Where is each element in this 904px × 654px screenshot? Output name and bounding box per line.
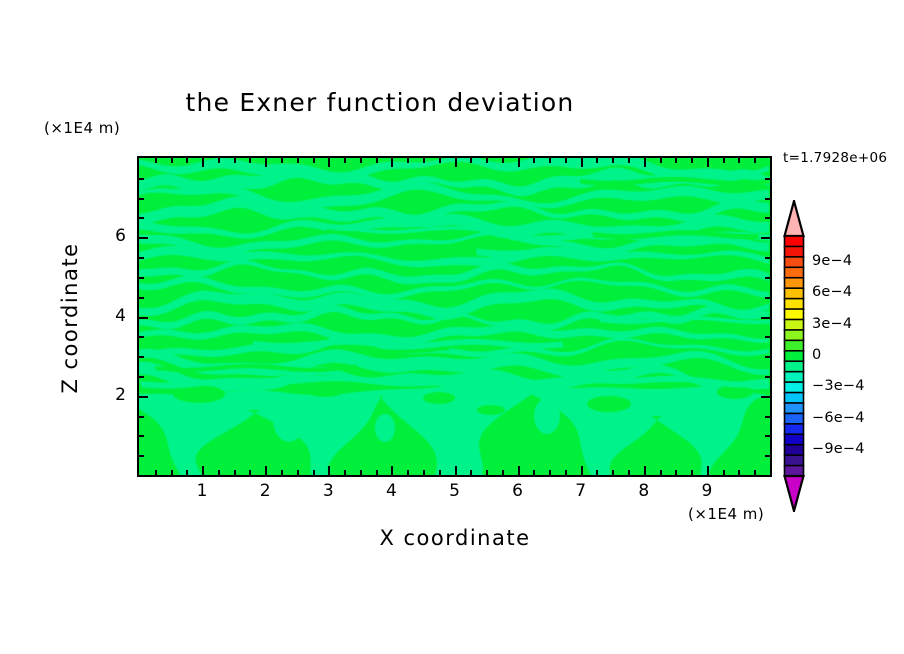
x-minor-tick-top — [297, 158, 299, 163]
x-minor-tick-top — [691, 158, 693, 163]
y-tick-label: 2 — [100, 385, 126, 405]
y-minor-tick-right — [765, 455, 770, 457]
x-minor-tick — [691, 470, 693, 475]
x-minor-tick — [502, 470, 504, 475]
x-minor-tick-top — [439, 158, 441, 163]
x-minor-tick-top — [675, 158, 677, 163]
x-tick-label: 3 — [313, 481, 343, 501]
x-minor-tick-top — [723, 158, 725, 163]
y-axis-title: Z coordinate — [58, 218, 82, 418]
colorbar-band — [785, 236, 804, 247]
x-major-tick — [265, 466, 267, 475]
x-major-tick-top — [518, 158, 520, 167]
colorbar-band — [785, 466, 804, 477]
x-minor-tick-top — [565, 158, 567, 163]
x-minor-tick-top — [281, 158, 283, 163]
colorbar-band — [785, 330, 804, 341]
x-minor-tick-top — [596, 158, 598, 163]
x-minor-tick-top — [218, 158, 220, 163]
x-tick-label: 4 — [376, 481, 406, 501]
x-minor-tick-top — [502, 158, 504, 163]
colorbar-band — [785, 351, 804, 362]
x-minor-tick-top — [549, 158, 551, 163]
x-minor-tick — [234, 470, 236, 475]
x-minor-tick-top — [313, 158, 315, 163]
x-minor-tick — [155, 470, 157, 475]
x-major-tick-top — [644, 158, 646, 167]
y-tick-label: 4 — [100, 306, 126, 326]
page-title: the Exner function deviation — [0, 88, 760, 117]
x-minor-tick — [376, 470, 378, 475]
x-minor-tick-top — [155, 158, 157, 163]
x-major-tick-top — [202, 158, 204, 167]
x-major-tick — [644, 466, 646, 475]
x-minor-tick-top — [186, 158, 188, 163]
y-minor-tick-right — [765, 435, 770, 437]
x-major-tick — [707, 466, 709, 475]
x-minor-tick — [360, 470, 362, 475]
y-minor-tick-right — [765, 277, 770, 279]
x-minor-tick-top — [344, 158, 346, 163]
colorbar-tick-label: 6e−4 — [812, 284, 852, 300]
z-axis-unit-label: (×1E4 m) — [44, 119, 120, 137]
colorbar-swatches — [783, 200, 805, 512]
y-major-tick — [139, 396, 148, 398]
colorbar-over-arrow — [785, 201, 804, 236]
y-major-tick-right — [761, 317, 770, 319]
colorbar-band — [785, 246, 804, 257]
y-minor-tick — [139, 198, 144, 200]
x-major-tick — [202, 466, 204, 475]
colorbar-band — [785, 309, 804, 320]
colorbar-band — [785, 382, 804, 393]
contour-field-canvas — [139, 158, 770, 475]
x-major-tick-top — [455, 158, 457, 167]
x-minor-tick — [423, 470, 425, 475]
x-minor-tick — [171, 470, 173, 475]
x-tick-label: 9 — [692, 481, 722, 501]
y-minor-tick — [139, 217, 144, 219]
colorbar-band — [785, 455, 804, 466]
x-minor-tick-top — [423, 158, 425, 163]
colorbar-tick-label: −9e−4 — [812, 441, 865, 457]
y-minor-tick — [139, 178, 144, 180]
x-minor-tick — [754, 470, 756, 475]
colorbar-band — [785, 403, 804, 414]
x-major-tick-top — [265, 158, 267, 167]
x-tick-label: 2 — [250, 481, 280, 501]
x-minor-tick — [628, 470, 630, 475]
x-minor-tick — [738, 470, 740, 475]
x-minor-tick-top — [738, 158, 740, 163]
y-minor-tick — [139, 376, 144, 378]
x-minor-tick-top — [533, 158, 535, 163]
x-minor-tick-top — [612, 158, 614, 163]
x-major-tick — [518, 466, 520, 475]
y-minor-tick — [139, 257, 144, 259]
x-minor-tick — [565, 470, 567, 475]
y-minor-tick-right — [765, 416, 770, 418]
x-minor-tick — [218, 470, 220, 475]
x-minor-tick — [596, 470, 598, 475]
colorbar-tick-label: 3e−4 — [812, 316, 852, 332]
x-minor-tick — [344, 470, 346, 475]
x-major-tick-top — [707, 158, 709, 167]
y-tick-label: 6 — [100, 226, 126, 246]
x-minor-tick — [549, 470, 551, 475]
x-major-tick-top — [391, 158, 393, 167]
colorbar-tick-label: 9e−4 — [812, 253, 852, 269]
x-major-tick-top — [581, 158, 583, 167]
x-minor-tick-top — [376, 158, 378, 163]
x-tick-label: 1 — [187, 481, 217, 501]
colorbar-band — [785, 413, 804, 424]
y-minor-tick — [139, 336, 144, 338]
x-minor-tick-top — [470, 158, 472, 163]
y-minor-tick — [139, 277, 144, 279]
colorbar-band — [785, 424, 804, 435]
colorbar-band — [785, 434, 804, 445]
x-major-tick-top — [328, 158, 330, 167]
x-minor-tick — [660, 470, 662, 475]
x-tick-label: 5 — [440, 481, 470, 501]
colorbar-band — [785, 267, 804, 278]
y-minor-tick — [139, 297, 144, 299]
x-minor-tick-top — [249, 158, 251, 163]
x-minor-tick — [249, 470, 251, 475]
colorbar-band — [785, 372, 804, 383]
y-minor-tick — [139, 416, 144, 418]
x-minor-tick — [297, 470, 299, 475]
x-minor-tick — [612, 470, 614, 475]
y-minor-tick — [139, 455, 144, 457]
contour-plot-area[interactable] — [137, 156, 772, 477]
colorbar-tick-label: −3e−4 — [812, 378, 865, 394]
x-tick-label: 6 — [503, 481, 533, 501]
x-major-tick — [391, 466, 393, 475]
y-major-tick — [139, 317, 148, 319]
x-minor-tick-top — [407, 158, 409, 163]
x-minor-tick — [407, 470, 409, 475]
x-axis-title: X coordinate — [0, 526, 904, 550]
x-minor-tick — [533, 470, 535, 475]
y-minor-tick-right — [765, 257, 770, 259]
colorbar-band — [785, 299, 804, 310]
x-minor-tick — [281, 470, 283, 475]
x-minor-tick — [486, 470, 488, 475]
x-minor-tick — [723, 470, 725, 475]
colorbar-band — [785, 278, 804, 289]
x-minor-tick-top — [754, 158, 756, 163]
y-major-tick-right — [761, 237, 770, 239]
x-minor-tick — [439, 470, 441, 475]
x-minor-tick-top — [360, 158, 362, 163]
colorbar-under-arrow — [785, 476, 804, 511]
x-tick-label: 8 — [629, 481, 659, 501]
y-minor-tick-right — [765, 198, 770, 200]
colorbar-tick-label: 0 — [812, 347, 821, 363]
x-minor-tick-top — [486, 158, 488, 163]
x-major-tick — [581, 466, 583, 475]
y-major-tick-right — [761, 396, 770, 398]
x-minor-tick — [313, 470, 315, 475]
x-minor-tick-top — [628, 158, 630, 163]
time-stamp-label: t=1.7928e+06 — [783, 150, 887, 166]
x-minor-tick — [186, 470, 188, 475]
y-minor-tick — [139, 356, 144, 358]
x-major-tick — [328, 466, 330, 475]
y-minor-tick-right — [765, 356, 770, 358]
y-minor-tick-right — [765, 376, 770, 378]
colorbar-band — [785, 340, 804, 351]
y-minor-tick-right — [765, 297, 770, 299]
x-minor-tick-top — [234, 158, 236, 163]
x-minor-tick-top — [171, 158, 173, 163]
colorbar[interactable] — [783, 200, 805, 512]
colorbar-band — [785, 288, 804, 299]
y-minor-tick-right — [765, 336, 770, 338]
x-axis-unit-label: (×1E4 m) — [688, 505, 764, 523]
x-major-tick — [455, 466, 457, 475]
colorbar-band — [785, 361, 804, 372]
colorbar-band — [785, 445, 804, 456]
x-minor-tick — [470, 470, 472, 475]
colorbar-band — [785, 257, 804, 268]
colorbar-band — [785, 319, 804, 330]
x-tick-label: 7 — [566, 481, 596, 501]
x-minor-tick-top — [660, 158, 662, 163]
y-minor-tick-right — [765, 217, 770, 219]
y-minor-tick — [139, 435, 144, 437]
y-major-tick — [139, 237, 148, 239]
x-minor-tick — [675, 470, 677, 475]
colorbar-band — [785, 393, 804, 404]
y-minor-tick-right — [765, 178, 770, 180]
colorbar-tick-label: −6e−4 — [812, 410, 865, 426]
